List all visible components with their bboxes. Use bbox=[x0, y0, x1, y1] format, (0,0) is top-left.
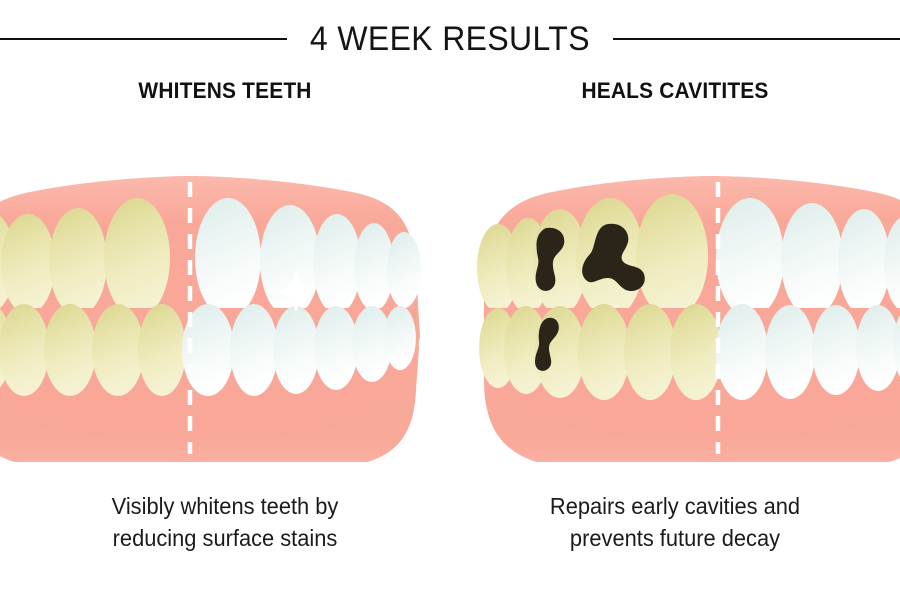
teeth-diagram-whitening bbox=[0, 122, 450, 462]
caption-line-1: Repairs early cavities and bbox=[461, 490, 889, 522]
panel-caption-cavities: Repairs early cavities and prevents futu… bbox=[461, 490, 889, 554]
panels-container: WHITENS TEETH bbox=[0, 66, 900, 600]
upper-teeth-white bbox=[716, 198, 900, 318]
tooth-upper-yellow-3 bbox=[49, 208, 107, 316]
tooth-lower-yellow-3 bbox=[44, 304, 96, 396]
lower-teeth-yellow bbox=[479, 304, 722, 400]
tooth-lower-yellow-4 bbox=[578, 304, 630, 400]
header-rule-left bbox=[0, 38, 287, 40]
tooth-upper-white-3 bbox=[313, 214, 361, 314]
panel-title-whitens: WHITENS TEETH bbox=[11, 78, 439, 104]
tooth-lower-yellow-6 bbox=[670, 304, 722, 400]
tooth-upper-white-5 bbox=[387, 232, 421, 308]
tooth-lower-white-2 bbox=[765, 305, 815, 399]
tooth-upper-white-2 bbox=[781, 203, 843, 317]
tooth-lower-white-3 bbox=[812, 305, 860, 395]
caption-line-1: Visibly whitens teeth by bbox=[11, 490, 439, 522]
tooth-lower-yellow-5 bbox=[138, 304, 186, 396]
caption-line-2: prevents future decay bbox=[461, 522, 889, 554]
upper-teeth-yellow bbox=[0, 198, 170, 318]
tooth-lower-white-2 bbox=[230, 304, 278, 396]
tooth-upper-yellow-5 bbox=[636, 194, 708, 318]
tooth-upper-white-1 bbox=[195, 198, 261, 318]
tooth-lower-yellow-5 bbox=[624, 304, 676, 400]
tooth-upper-white-2 bbox=[260, 205, 320, 317]
page-title: 4 WEEK RESULTS bbox=[297, 20, 603, 58]
tooth-lower-yellow-4 bbox=[92, 304, 144, 396]
tooth-upper-yellow-4 bbox=[104, 198, 170, 318]
header: 4 WEEK RESULTS bbox=[0, 18, 900, 60]
tooth-lower-white-4 bbox=[314, 306, 358, 390]
panel-title-cavities: HEALS CAVITITES bbox=[461, 78, 889, 104]
tooth-upper-white-1 bbox=[716, 198, 784, 318]
tooth-upper-yellow-2 bbox=[1, 214, 55, 314]
tooth-lower-white-3 bbox=[273, 306, 319, 394]
illustration-whitening bbox=[0, 122, 450, 462]
teeth-diagram-cavities bbox=[450, 122, 900, 462]
illustration-cavities bbox=[450, 122, 900, 462]
panel-heals-cavities: HEALS CAVITITES bbox=[450, 66, 900, 600]
panel-caption-whitens: Visibly whitens teeth by reducing surfac… bbox=[11, 490, 439, 554]
tooth-lower-white-1 bbox=[716, 304, 768, 400]
tooth-lower-white-6 bbox=[384, 306, 416, 370]
tooth-lower-yellow-2 bbox=[0, 304, 49, 396]
results-infographic: 4 WEEK RESULTS WHITENS TEETH bbox=[0, 0, 900, 600]
caption-line-2: reducing surface stains bbox=[11, 522, 439, 554]
header-rule-right bbox=[613, 38, 900, 40]
panel-whitens-teeth: WHITENS TEETH bbox=[0, 66, 450, 600]
tooth-upper-white-3 bbox=[838, 209, 890, 315]
